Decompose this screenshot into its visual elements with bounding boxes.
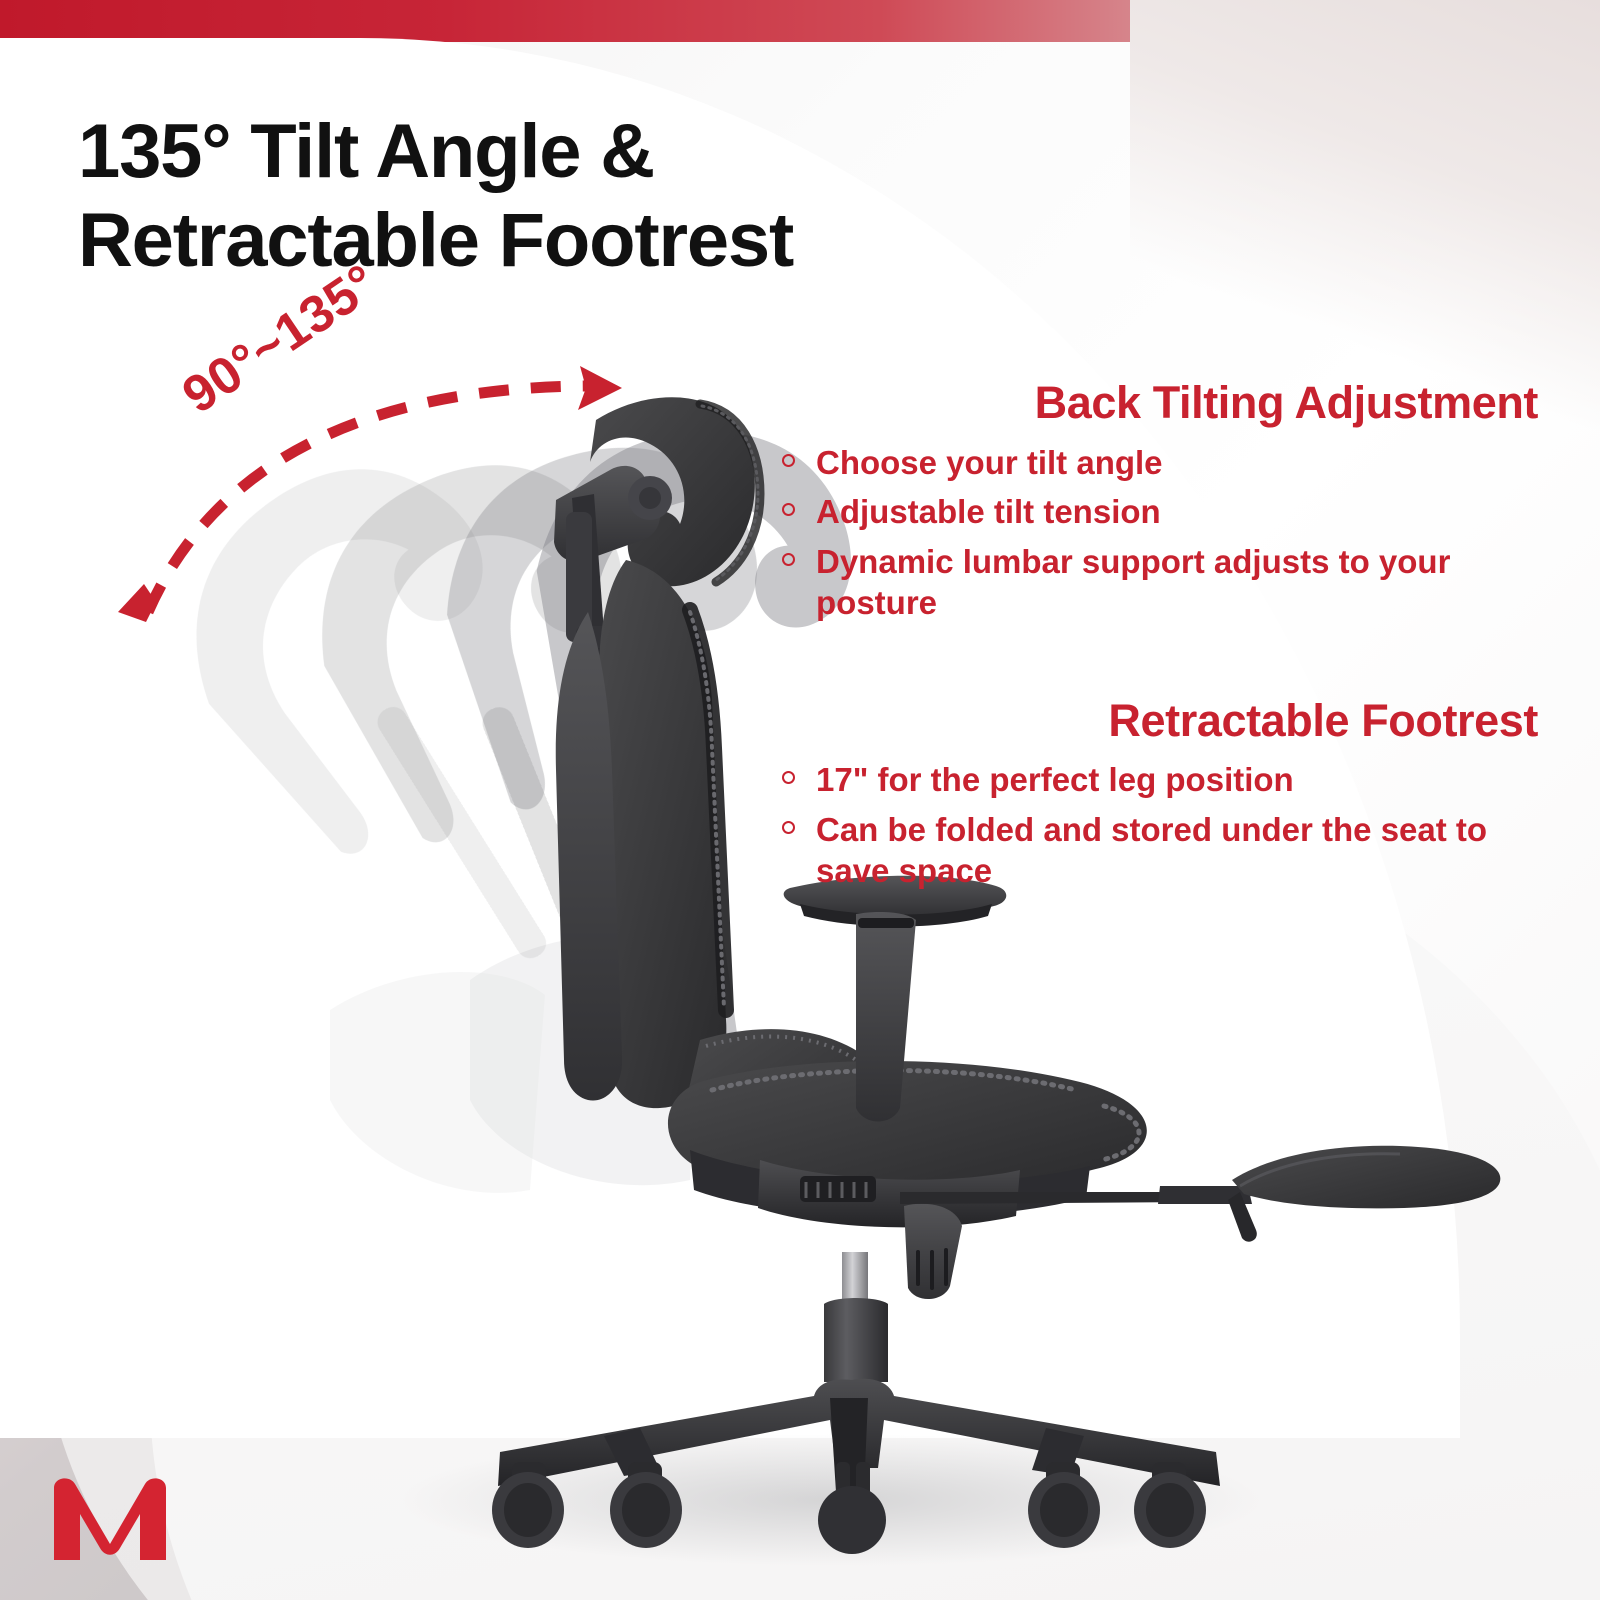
- headline-line-2: Retractable Footrest: [78, 197, 1038, 286]
- bullet-circle-icon: [782, 821, 795, 834]
- arrowhead-left-icon: [118, 584, 156, 622]
- section-heading: Retractable Footrest: [770, 696, 1560, 746]
- list-item-label: Can be folded and stored under the seat …: [816, 811, 1487, 890]
- list-item-label: Choose your tilt angle: [816, 444, 1163, 481]
- list-item: Can be folded and stored under the seat …: [770, 809, 1560, 892]
- feature-text-column: Back Tilting Adjustment Choose your tilt…: [770, 378, 1560, 900]
- list-item-label: Dynamic lumbar support adjusts to your p…: [816, 543, 1450, 622]
- page-title: 135° Tilt Angle & Retractable Footrest: [78, 108, 1038, 286]
- feature-list: Choose your tilt angle Adjustable tilt t…: [770, 442, 1560, 624]
- list-item: 17" for the perfect leg position: [770, 759, 1560, 801]
- headline-line-1: 135° Tilt Angle &: [78, 109, 654, 194]
- list-item: Choose your tilt angle: [770, 442, 1560, 484]
- list-item-label: Adjustable tilt tension: [816, 493, 1161, 530]
- section-retractable-footrest: Retractable Footrest 17" for the perfect…: [770, 696, 1560, 892]
- tilt-tension-knob: [904, 1204, 962, 1299]
- section-heading: Back Tilting Adjustment: [770, 378, 1560, 428]
- tilt-angle-annotation: 90°~135°: [110, 330, 650, 640]
- gas-cylinder: [824, 1252, 888, 1382]
- bullet-circle-icon: [782, 454, 795, 467]
- list-item: Dynamic lumbar support adjusts to your p…: [770, 541, 1560, 624]
- bullet-circle-icon: [782, 771, 795, 784]
- feature-list: 17" for the perfect leg position Can be …: [770, 759, 1560, 892]
- bullet-circle-icon: [782, 553, 795, 566]
- list-item: Adjustable tilt tension: [770, 491, 1560, 533]
- list-item-label: 17" for the perfect leg position: [816, 761, 1294, 798]
- section-back-tilting: Back Tilting Adjustment Choose your tilt…: [770, 378, 1560, 624]
- infographic-canvas: 135° Tilt Angle & Retractable Footrest 9…: [0, 0, 1600, 1600]
- brand-logo-m-icon: [40, 1468, 180, 1568]
- bullet-circle-icon: [782, 503, 795, 516]
